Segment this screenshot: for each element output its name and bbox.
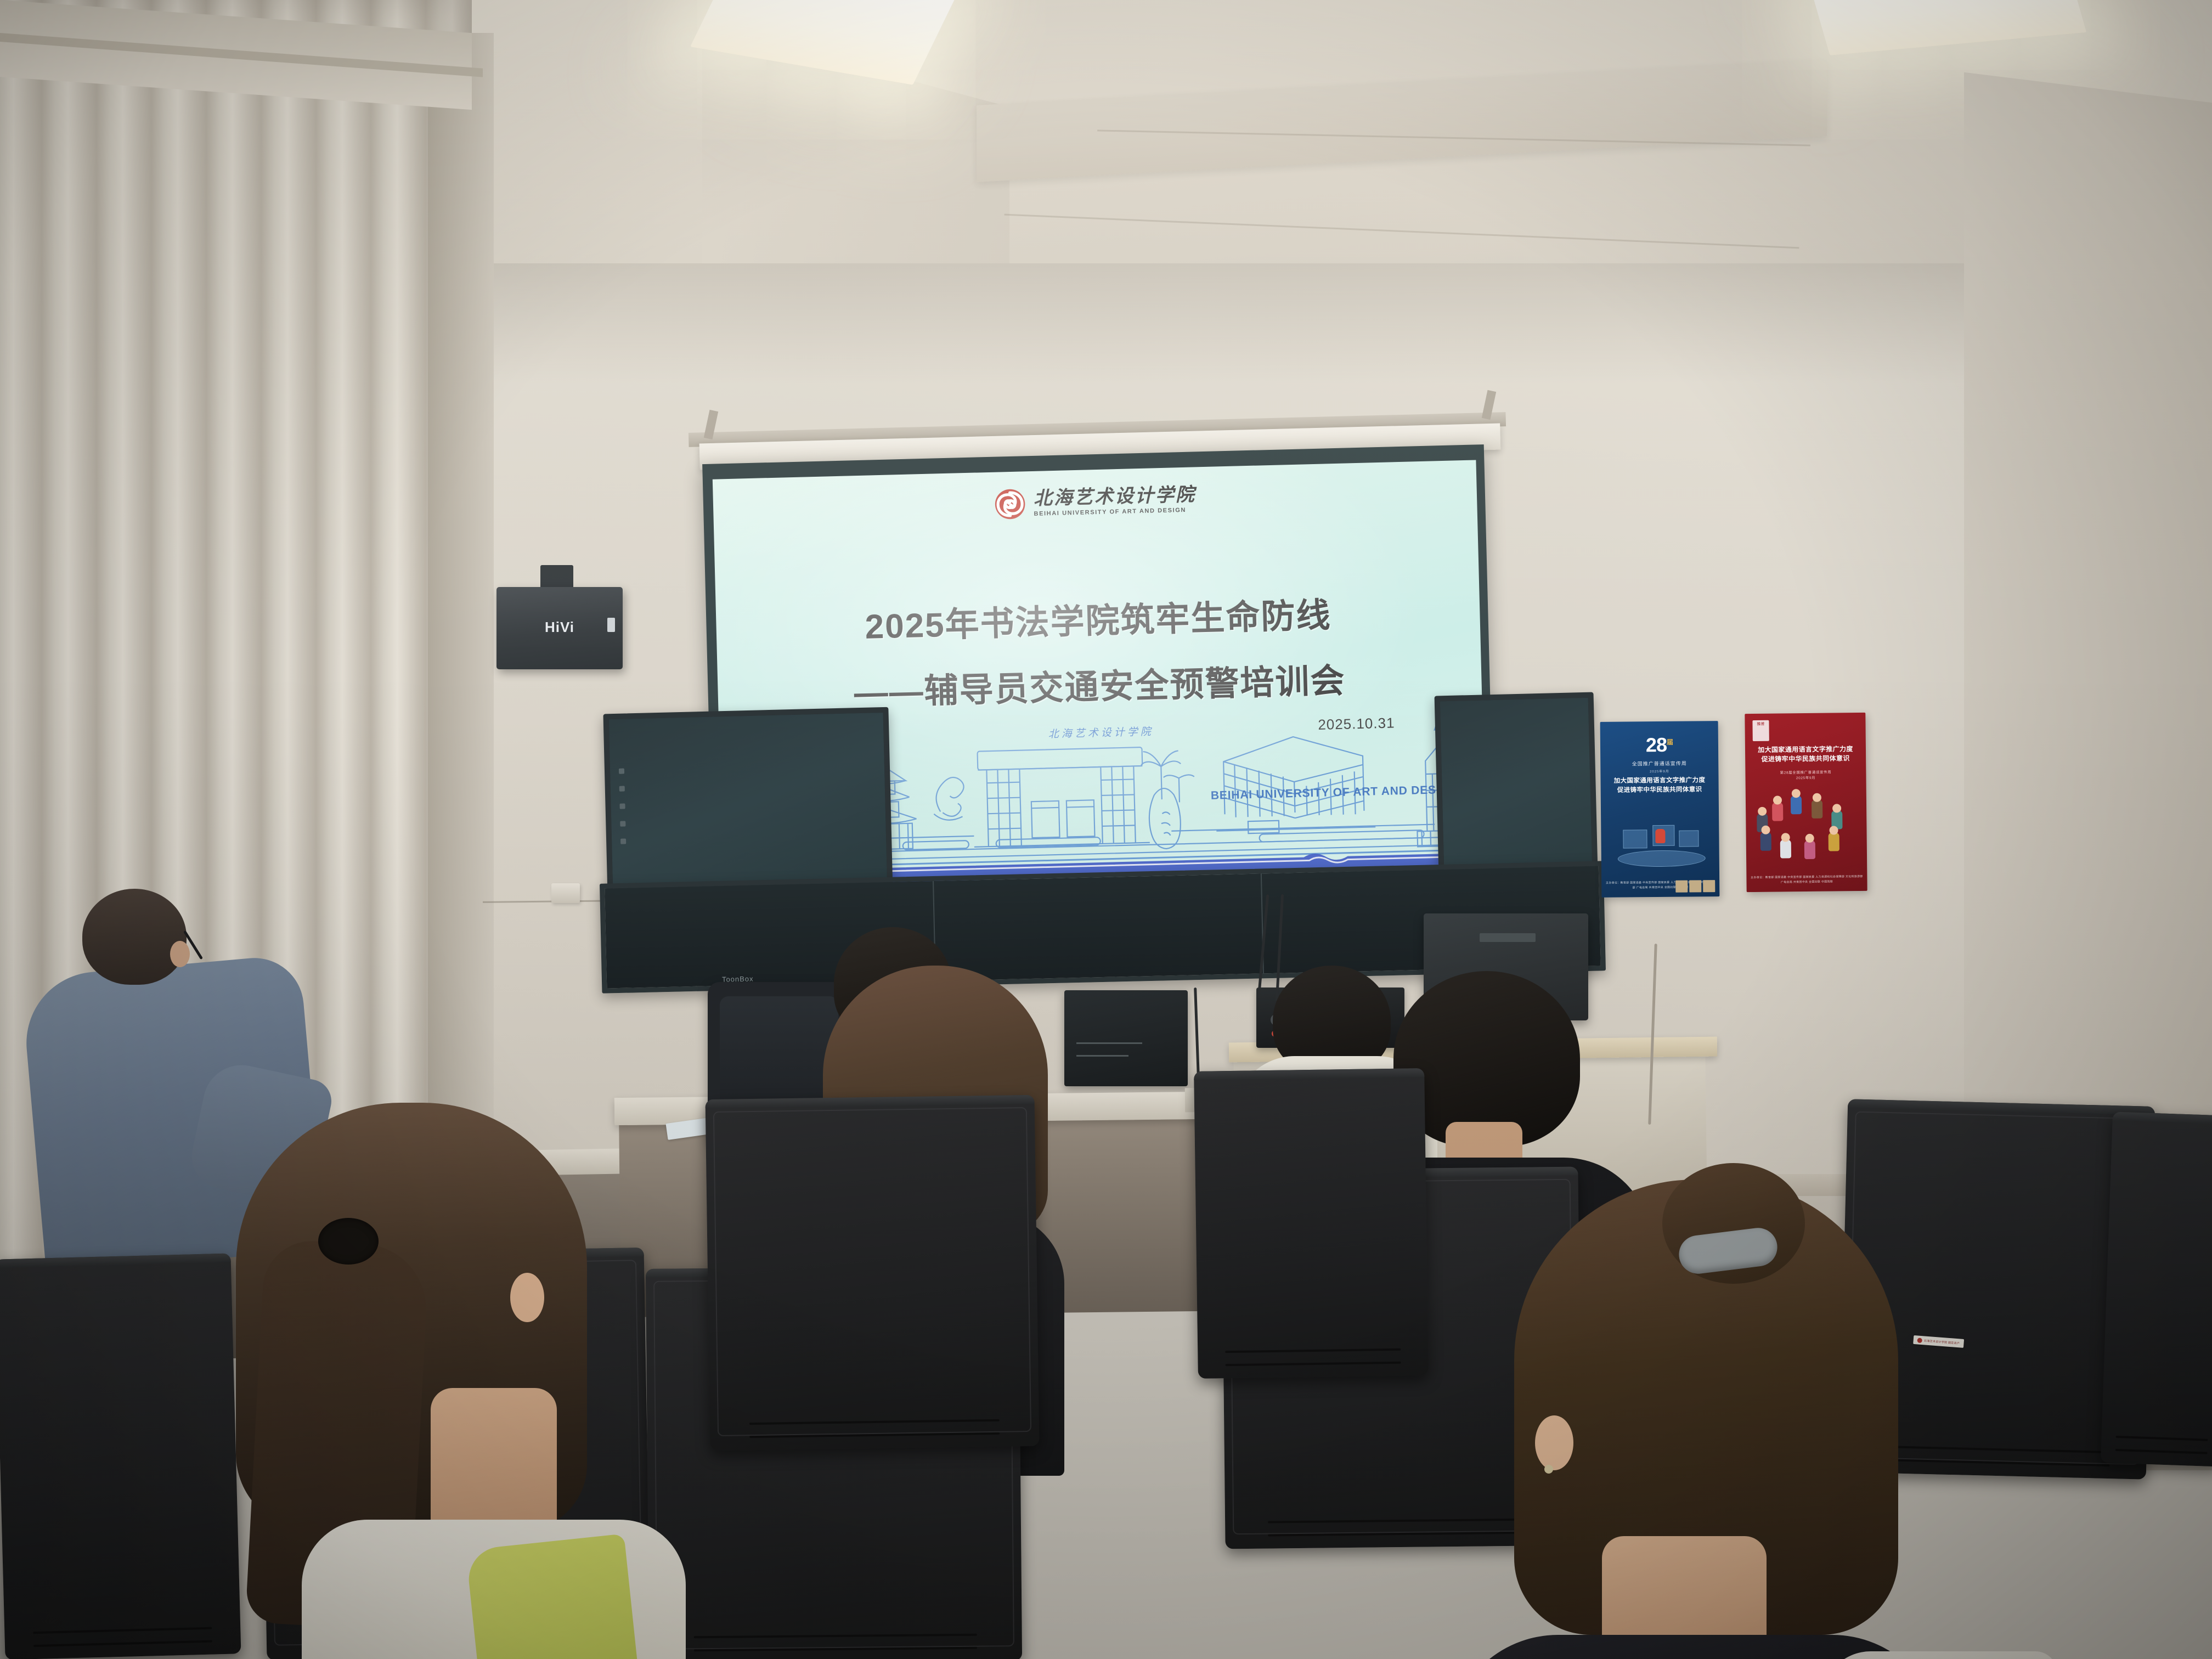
beihai-swirl-logo-icon xyxy=(994,488,1026,520)
poster-red-organizers: 主办单位：教育部 国家语委 中央宣传部 国家民委 人力资源和社会保障部 文化和旅… xyxy=(1750,874,1864,885)
person-woman-foreground-ponytail xyxy=(236,1103,697,1659)
monitor-bezel-strip xyxy=(1480,933,1536,942)
classroom-photo: HiVi 北海艺术设计学院 BEIHAI UNIVERSITY OF ART A… xyxy=(0,0,2212,1659)
desk-monitor-line-1 xyxy=(1076,1042,1142,1044)
poster-blue-week-title: 全国推广普通话宣传周 xyxy=(1600,759,1718,768)
slide-gate-name: 北海艺术设计学院 xyxy=(1048,724,1154,741)
bun-woman-ear xyxy=(1535,1415,1573,1470)
desk-monitor-line-2 xyxy=(1076,1055,1128,1057)
poster-blue-mark-2 xyxy=(1689,880,1701,892)
poster-blue-mark-1 xyxy=(1675,881,1688,893)
earring-icon xyxy=(1544,1465,1553,1474)
poster-red-children-illustration xyxy=(1751,789,1861,862)
display-menu-button-icon[interactable] xyxy=(619,786,625,792)
chair-right-rear[interactable] xyxy=(1194,1068,1429,1379)
poster-kid-3 xyxy=(1791,795,1802,814)
poster-kid-6 xyxy=(1829,832,1839,851)
display-power-button-icon[interactable] xyxy=(619,769,624,774)
poster-kid-9 xyxy=(1760,832,1771,851)
wall-speaker: HiVi xyxy=(496,587,623,669)
slide-logo-en-name: BEIHAI UNIVERSITY OF ART AND DESIGN xyxy=(1034,507,1196,517)
poster-kid-8 xyxy=(1780,839,1791,858)
poster-blue-number: 28届 xyxy=(1600,733,1718,757)
slide-logo: 北海艺术设计学院 BEIHAI UNIVERSITY OF ART AND DE… xyxy=(994,483,1196,520)
poster-blue-mascot-icon xyxy=(1655,829,1665,843)
hair-tie-icon xyxy=(318,1218,379,1265)
poster-red-badge: 推普 xyxy=(1752,720,1769,741)
chair-mid-center[interactable] xyxy=(706,1095,1040,1451)
ponytail-woman-neck xyxy=(431,1388,557,1542)
display-source-button-icon[interactable] xyxy=(620,838,626,844)
ponytail-woman-ear xyxy=(510,1273,544,1322)
chair-row2-left-outer[interactable] xyxy=(0,1253,241,1659)
speaker-led-icon xyxy=(607,618,615,632)
poster-blue-mark-3 xyxy=(1703,880,1715,892)
poster-blue-illustration xyxy=(1610,811,1711,878)
poster-mandarin-week-blue: 28届 全国推广普通话宣传周 2025年9月 加大国家通用语言文字推广力度 促进… xyxy=(1600,721,1720,898)
person-woman-foreground-bun xyxy=(1514,1180,2008,1659)
speaker-brand-label: HiVi xyxy=(496,619,623,636)
poster-kid-7 xyxy=(1804,840,1815,859)
poster-blue-slogan: 加大国家通用语言文字推广力度 促进铸牢中华民族共同体意识 xyxy=(1605,776,1714,795)
display-volume-down-button-icon[interactable] xyxy=(620,821,625,826)
chair-back-panel xyxy=(713,1107,1031,1436)
chair-right-far[interactable] xyxy=(2101,1111,2212,1466)
poster-blue-footer-marks xyxy=(1675,880,1715,893)
desk-monitor[interactable] xyxy=(1064,990,1188,1086)
slide-title-line1: 2025年书法学院筑牢生命防线 xyxy=(864,587,1331,648)
poster-blue-year: 2025年9月 xyxy=(1600,768,1718,774)
poster-blue-screen-3 xyxy=(1679,830,1699,847)
ponytail-woman-collar xyxy=(466,1533,637,1659)
wall-switch[interactable] xyxy=(551,883,580,903)
slide-logo-cn-name: 北海艺术设计学院 xyxy=(1033,486,1196,508)
poster-blue-screen-1 xyxy=(1623,830,1647,848)
poster-blue-platform xyxy=(1618,850,1706,867)
poster-red-subtitle: 第28届全国推广普通话宣传周 2025年9月 xyxy=(1750,770,1861,782)
poster-kid-2 xyxy=(1772,802,1783,821)
blue-shirt-man-ear xyxy=(170,941,190,967)
poster-mandarin-week-red: 推普 加大国家通用语言文字推广力度 促进铸牢中华民族共同体意识 第28届全国推广… xyxy=(1745,713,1867,892)
wall-top-shadow xyxy=(428,263,2212,384)
blue-shirt-man-head xyxy=(82,889,187,985)
poster-red-slogan: 加大国家通用语言文字推广力度 促进铸牢中华民族共同体意识 xyxy=(1750,744,1861,765)
display-volume-up-button-icon[interactable] xyxy=(619,803,625,809)
poster-kid-4 xyxy=(1812,800,1822,819)
